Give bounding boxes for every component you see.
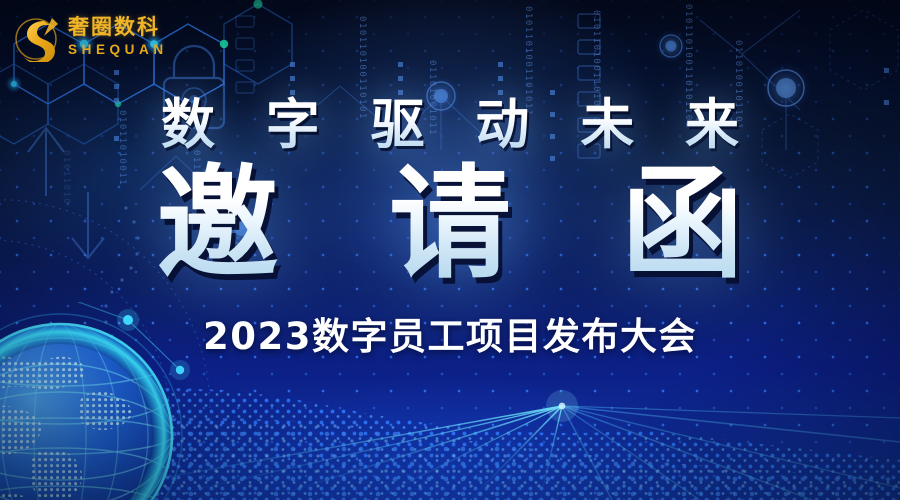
kicker-text: 数 字 驱 动 未 来 — [0, 96, 900, 154]
headline-block: 数 字 驱 动 未 来 邀 请 函 2023数字员工项目发布大会 — [0, 96, 900, 360]
brand-name-cn: 奢圈数科 — [68, 17, 168, 38]
page-title: 邀 请 函 — [0, 160, 900, 288]
subtitle-text: 2023数字员工项目发布大会 — [0, 306, 900, 360]
invitation-banner: 01011010011 0110100101 010110100110101 0… — [0, 0, 900, 500]
brand-wordmark: 奢圈数科 SHEQUAN — [68, 17, 168, 57]
shequan-monogram-icon — [14, 12, 60, 62]
brand-name-en: SHEQUAN — [68, 43, 168, 57]
brand-logo[interactable]: 奢圈数科 SHEQUAN — [14, 12, 168, 62]
